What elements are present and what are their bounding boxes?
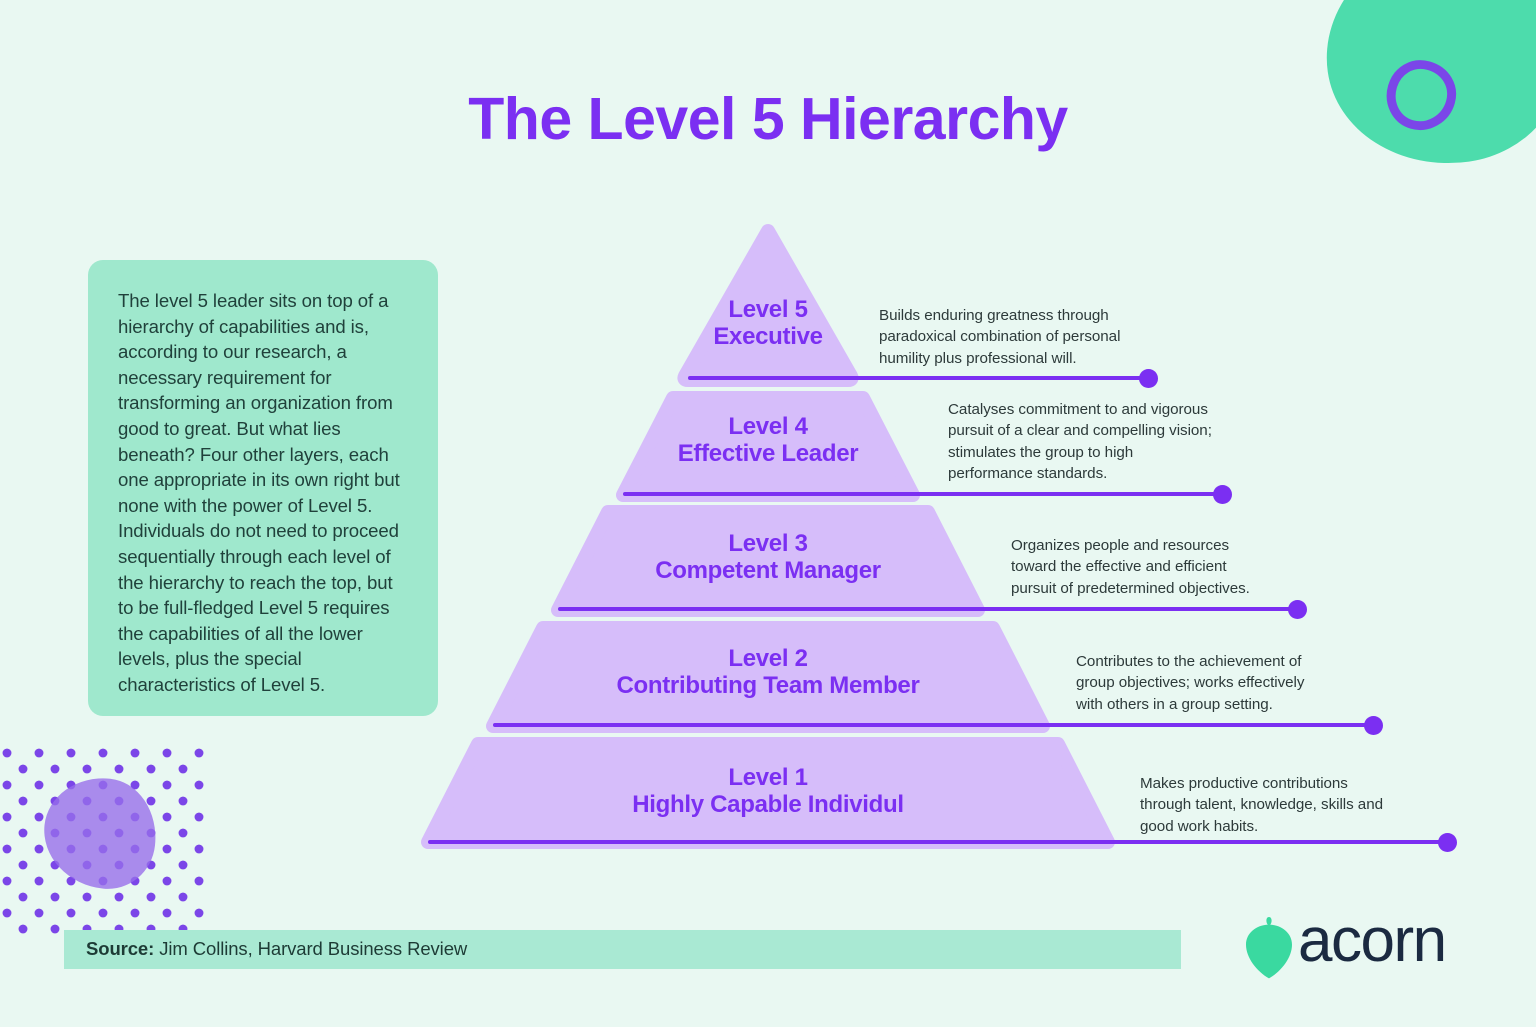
tier-5-title: Executive: [713, 324, 822, 351]
connector-line-level-5: [688, 376, 1150, 380]
tier-3-level: Level 3: [655, 531, 881, 558]
tier-1-level: Level 1: [632, 765, 904, 792]
pyramid-label-level-3: Level 3 Competent Manager: [655, 531, 881, 585]
connector-dot-level-4: [1213, 485, 1232, 504]
description-level-4: Catalyses commitment to and vigorous pur…: [948, 399, 1214, 485]
description-level-2: Contributes to the achievement of group …: [1076, 651, 1324, 715]
pyramid-label-level-1: Level 1 Highly Capable Individul: [632, 765, 904, 819]
source-label: Source:: [86, 938, 154, 959]
description-level-5: Builds enduring greatness through parado…: [879, 305, 1141, 369]
tier-2-title: Contributing Team Member: [616, 673, 919, 700]
logo-wordmark: acorn: [1298, 903, 1446, 978]
infographic-canvas: The Level 5 Hierarchy The level 5 leader…: [0, 0, 1536, 1027]
connector-line-level-1: [428, 840, 1450, 844]
tier-4-title: Effective Leader: [678, 441, 859, 468]
connector-line-level-3: [558, 607, 1300, 611]
pyramid-label-level-5: Level 5 Executive: [713, 297, 822, 351]
acorn-icon: [1240, 911, 1298, 986]
source-text: Source: Jim Collins, Harvard Business Re…: [86, 938, 467, 960]
tier-4-level: Level 4: [678, 414, 859, 441]
connector-line-level-2: [493, 723, 1377, 727]
pyramid-label-level-2: Level 2 Contributing Team Member: [616, 646, 919, 700]
description-level-3: Organizes people and resources toward th…: [1011, 535, 1271, 599]
tier-3-title: Competent Manager: [655, 558, 881, 585]
pyramid-label-level-4: Level 4 Effective Leader: [678, 414, 859, 468]
connector-dot-level-1: [1438, 833, 1457, 852]
connector-line-level-4: [623, 492, 1225, 496]
description-level-1: Makes productive contributions through t…: [1140, 773, 1398, 837]
tier-2-level: Level 2: [616, 646, 919, 673]
acorn-logo: acorn: [1240, 905, 1472, 980]
connector-dot-level-5: [1139, 369, 1158, 388]
connector-dot-level-3: [1288, 600, 1307, 619]
connector-dot-level-2: [1364, 716, 1383, 735]
tier-1-title: Highly Capable Individul: [632, 792, 904, 819]
tier-5-level: Level 5: [713, 297, 822, 324]
pyramid-chart: Level 5 Executive Level 4 Effective Lead…: [0, 0, 1536, 1027]
source-value: Jim Collins, Harvard Business Review: [159, 938, 467, 959]
